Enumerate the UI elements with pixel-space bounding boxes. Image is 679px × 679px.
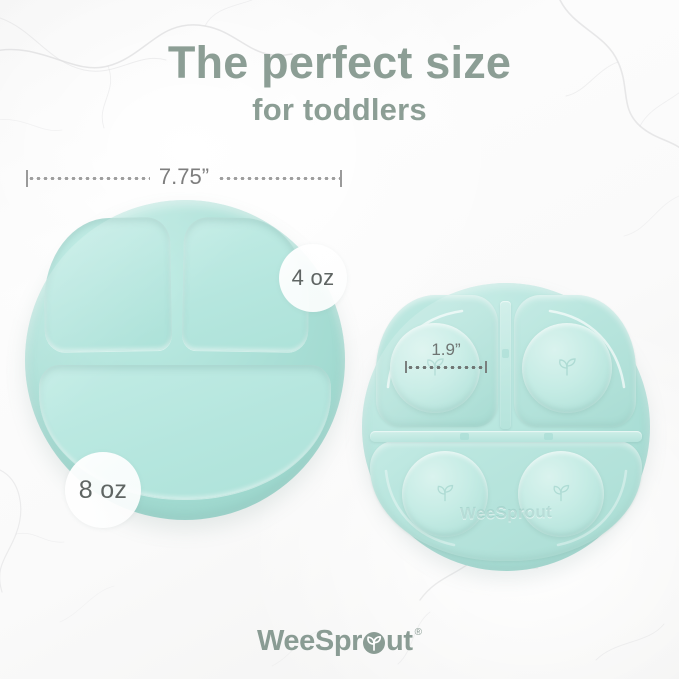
sprout-emboss-icon [550,351,584,385]
suction-cup-bottom-left [402,451,488,537]
page-subtitle: for toddlers [0,92,679,128]
suction-cup-dimension-line: 1.9” [405,341,487,373]
dimension-end-cap-right [485,361,487,373]
brand-wordmark-part-2: ut [386,626,413,656]
brand-wordmark-part-1: WeeSpr [257,626,362,656]
sprout-icon [362,631,386,655]
plate-width-label: 7.75” [150,164,218,190]
suction-cup-bottom-right [518,451,604,537]
underside-highlight-arcs [362,283,650,571]
dimension-dotted-rule-left [28,177,150,180]
dimension-dotted-rule [407,366,485,369]
capacity-badge-4oz: 4 oz [279,244,347,312]
infographic-canvas: The perfect size for toddlers 7.75” [0,0,679,679]
capacity-badge-8oz: 8 oz [65,452,141,528]
sprout-emboss-icon [545,478,577,510]
capacity-badge-label: 4 oz [292,265,335,291]
brand-logo: WeeSpr ut ® [0,626,679,656]
page-title: The perfect size [0,38,679,88]
dimension-end-cap-right [340,170,342,187]
suction-cup-top-right [522,323,612,413]
sprout-emboss-icon [429,478,461,510]
capacity-badge-label: 8 oz [79,476,127,505]
suction-cup-width-label: 1.9” [405,341,487,359]
plate-width-dimension-line: 7.75” [26,166,342,190]
dimension-dotted-rule-right [218,177,340,180]
toddler-plate-underside-view: WeeSprout [362,283,650,571]
registered-trademark-symbol: ® [415,627,422,638]
